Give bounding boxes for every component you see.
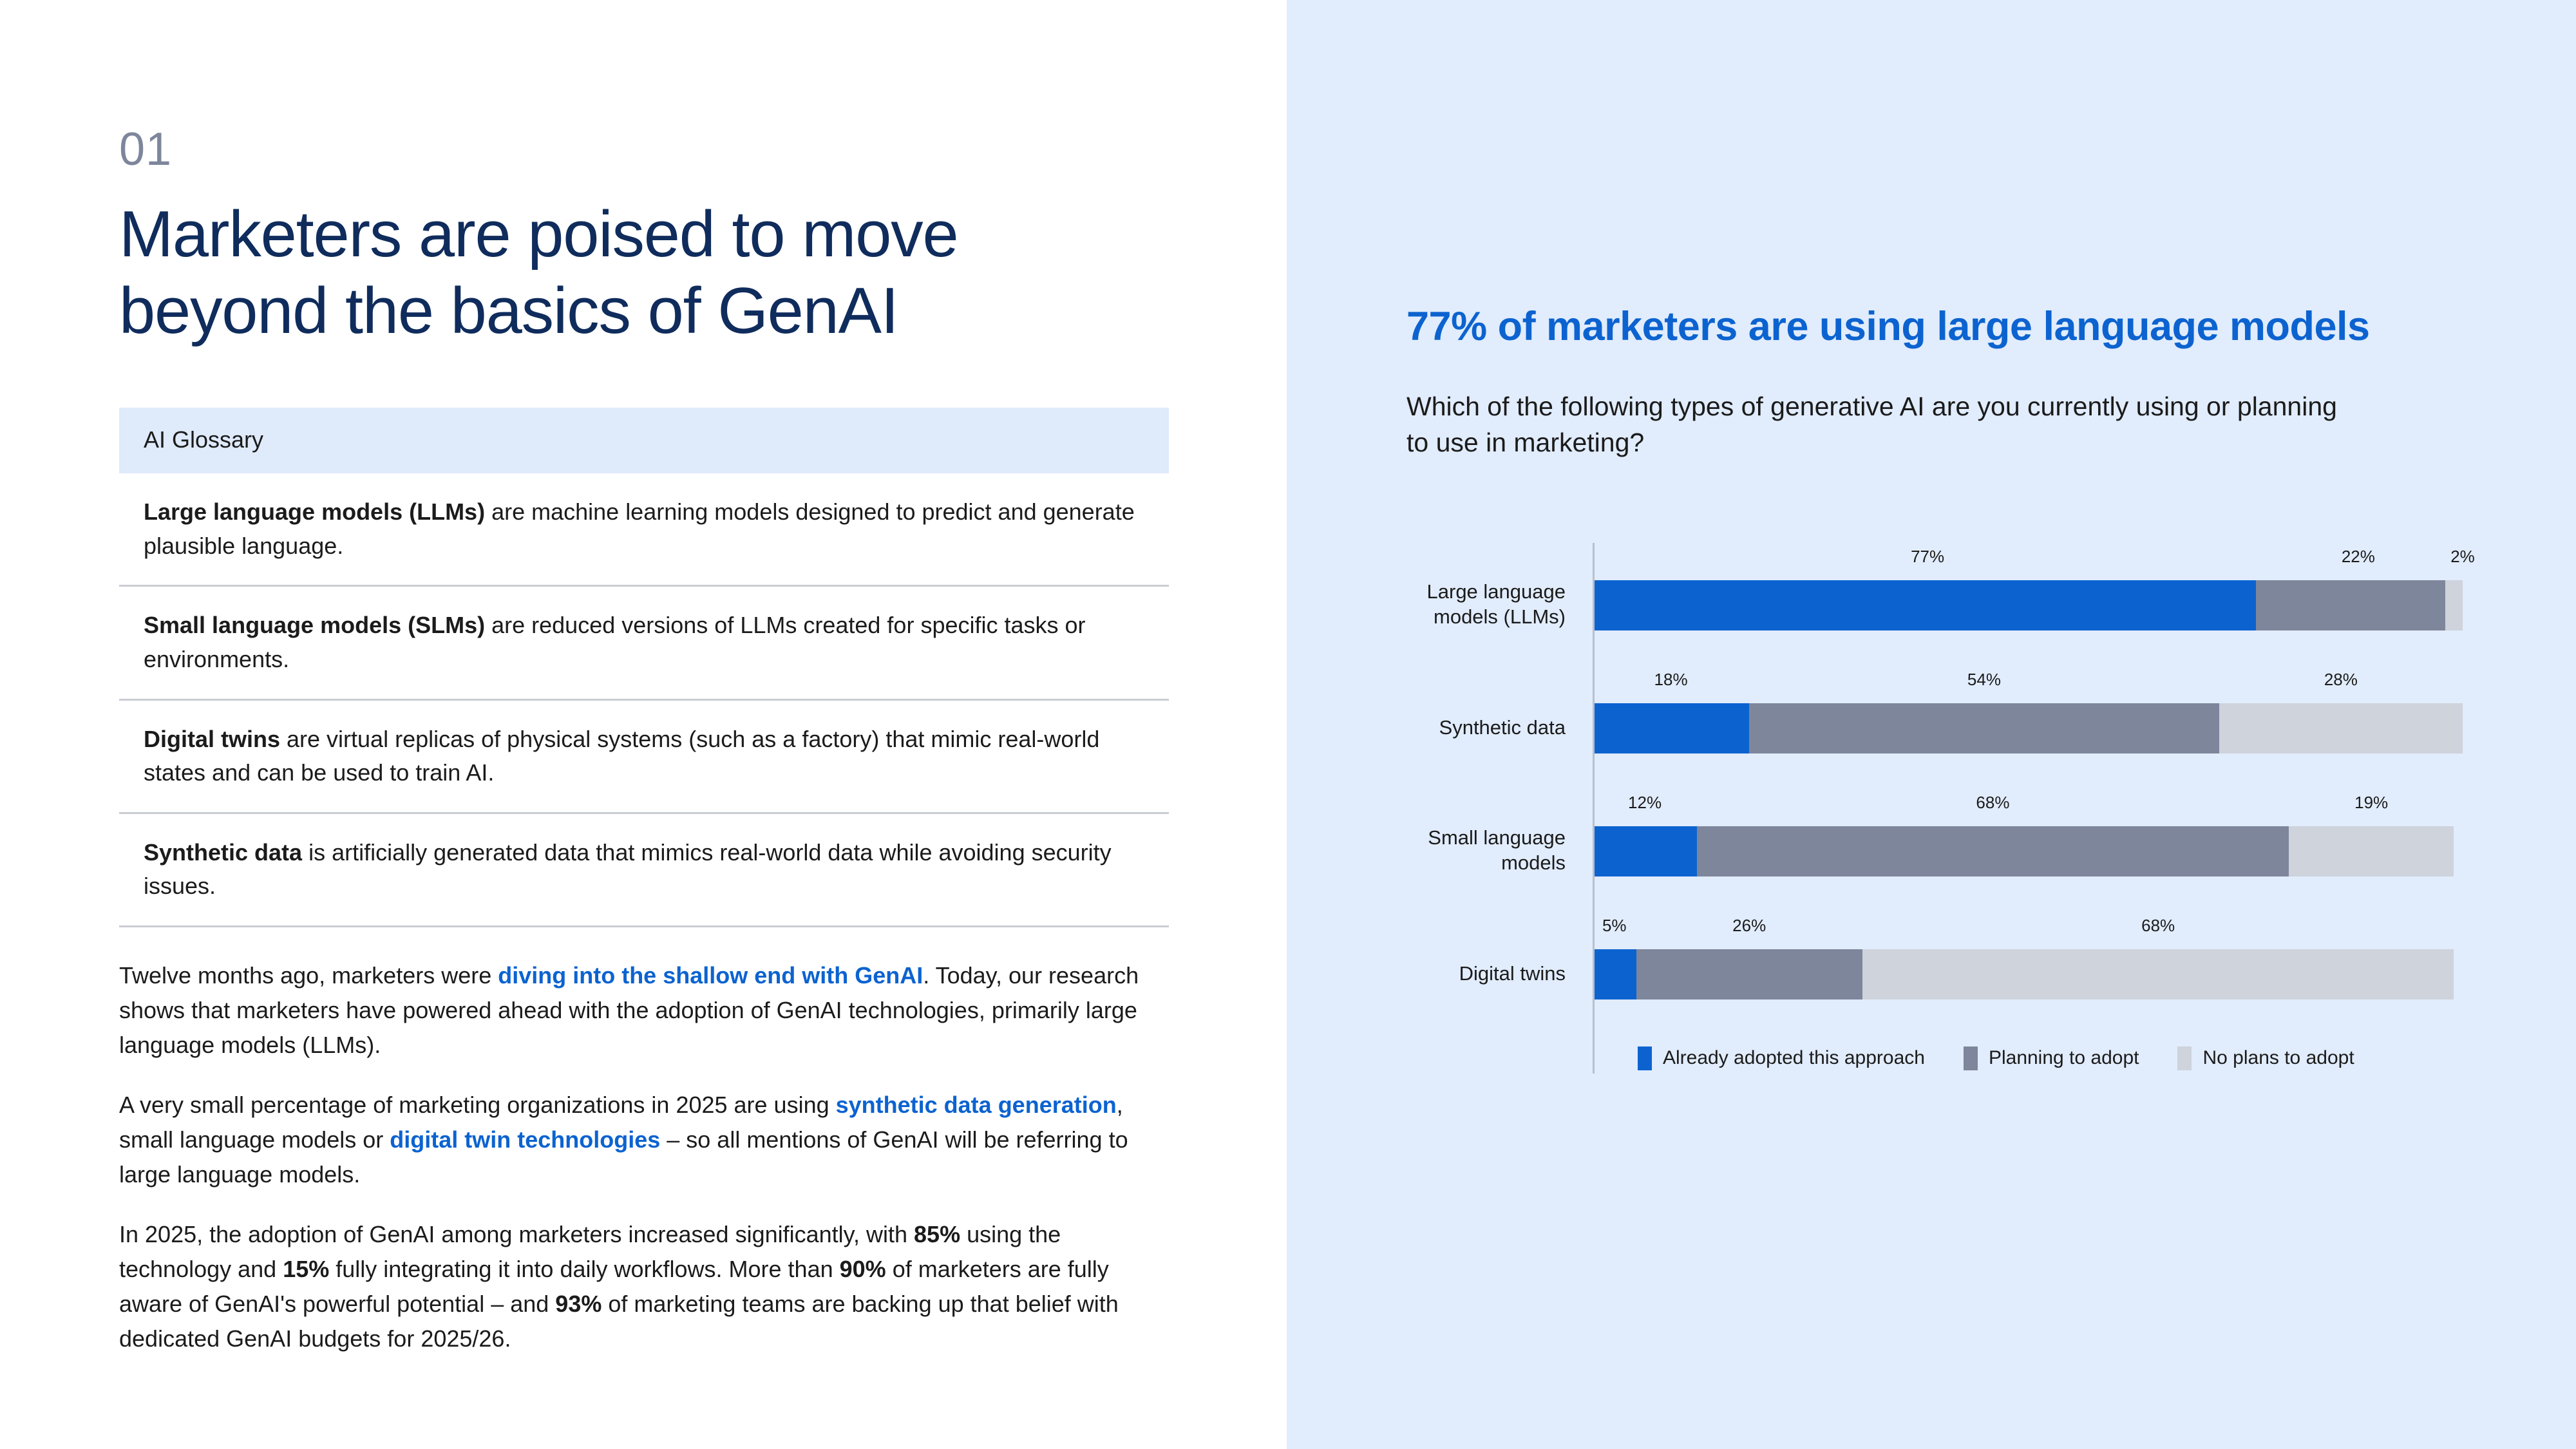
glossary-row: Small language models (SLMs) are reduced… bbox=[119, 587, 1169, 700]
bar-row: Large language models (LLMs)77%22%2% bbox=[1406, 543, 2463, 666]
bar-value-label: 54% bbox=[1967, 670, 2001, 690]
bar-segment[interactable] bbox=[1697, 826, 2289, 876]
bar-category-label: Digital twins bbox=[1406, 912, 1581, 1035]
glossary-term: Large language models (LLMs) bbox=[144, 498, 485, 525]
bar-row: Digital twins5%26%68% bbox=[1406, 912, 2463, 1035]
glossary-term: Digital twins bbox=[144, 726, 280, 752]
chart-question: Which of the following types of generati… bbox=[1406, 388, 2340, 460]
legend-item[interactable]: Already adopted this approach bbox=[1638, 1046, 1925, 1070]
bar-value-label: 28% bbox=[2324, 670, 2358, 690]
glossary-term: Synthetic data bbox=[144, 839, 302, 866]
chart-legend: Already adopted this approachPlanning to… bbox=[1593, 1046, 2463, 1070]
stat-15-percent: 15% bbox=[283, 1256, 329, 1282]
bar-track: 77%22%2% bbox=[1593, 543, 2463, 666]
bar-row: Synthetic data18%54%28% bbox=[1406, 666, 2463, 789]
paragraph-1: Twelve months ago, marketers were diving… bbox=[119, 958, 1166, 1063]
article-panel: 01 Marketers are poised to move beyond t… bbox=[0, 0, 1287, 1449]
bar-segment[interactable] bbox=[1593, 826, 1697, 876]
chart-axis-line bbox=[1593, 543, 1595, 1074]
legend-swatch-icon bbox=[2177, 1046, 2192, 1070]
link-shallow-end-genai[interactable]: diving into the shallow end with GenAI bbox=[498, 962, 923, 989]
bar-value-label: 2% bbox=[2450, 547, 2475, 567]
bar-stack bbox=[1593, 949, 2463, 999]
section-number: 01 bbox=[119, 126, 1172, 173]
bar-segment[interactable] bbox=[1636, 949, 1862, 999]
bar-value-label: 26% bbox=[1732, 916, 1766, 936]
paragraph-3-text-d: fully integrating it into daily workflow… bbox=[329, 1256, 839, 1282]
glossary-header: AI Glossary bbox=[119, 408, 1169, 473]
bar-category-label: Small language models bbox=[1406, 789, 1581, 912]
stat-93-percent: 93% bbox=[555, 1291, 601, 1317]
bar-value-label: 5% bbox=[1602, 916, 1627, 936]
bar-segment[interactable] bbox=[2219, 703, 2463, 753]
glossary-row: Synthetic data is artificially generated… bbox=[119, 814, 1169, 927]
link-synthetic-data-generation[interactable]: synthetic data generation bbox=[836, 1092, 1117, 1118]
bar-value-label: 68% bbox=[1976, 793, 2009, 813]
bar-value-label: 22% bbox=[2342, 547, 2375, 567]
paragraph-3: In 2025, the adoption of GenAI among mar… bbox=[119, 1217, 1166, 1356]
stacked-bar-chart: Large language models (LLMs)77%22%2%Synt… bbox=[1406, 543, 2463, 1070]
paragraph-1-text-a: Twelve months ago, marketers were bbox=[119, 962, 498, 989]
paragraph-3-text-a: In 2025, the adoption of GenAI among mar… bbox=[119, 1221, 914, 1247]
bar-track: 12%68%19% bbox=[1593, 789, 2463, 912]
paragraph-2-text-a: A very small percentage of marketing org… bbox=[119, 1092, 836, 1118]
legend-label: No plans to adopt bbox=[2202, 1047, 2354, 1069]
bar-segment[interactable] bbox=[2256, 580, 2445, 630]
bar-value-label: 18% bbox=[1654, 670, 1688, 690]
bar-stack bbox=[1593, 703, 2463, 753]
bar-segment[interactable] bbox=[1749, 703, 2219, 753]
bar-track: 18%54%28% bbox=[1593, 666, 2463, 789]
bar-track: 5%26%68% bbox=[1593, 912, 2463, 1035]
legend-swatch-icon bbox=[1638, 1046, 1652, 1070]
legend-label: Already adopted this approach bbox=[1663, 1047, 1925, 1069]
legend-item[interactable]: Planning to adopt bbox=[1964, 1046, 2139, 1070]
legend-label: Planning to adopt bbox=[1989, 1047, 2139, 1069]
stat-85-percent: 85% bbox=[914, 1221, 960, 1247]
glossary-term: Small language models (SLMs) bbox=[144, 612, 485, 638]
bar-row: Small language models12%68%19% bbox=[1406, 789, 2463, 912]
glossary-row: Large language models (LLMs) are machine… bbox=[119, 473, 1169, 587]
slide-root: 01 Marketers are poised to move beyond t… bbox=[0, 0, 2576, 1449]
ai-glossary-table: AI Glossary Large language models (LLMs)… bbox=[119, 408, 1169, 927]
bar-category-label: Large language models (LLMs) bbox=[1406, 543, 1581, 666]
article-body: Twelve months ago, marketers were diving… bbox=[119, 958, 1166, 1356]
link-digital-twin-technologies[interactable]: digital twin technologies bbox=[390, 1126, 660, 1153]
glossary-row: Digital twins are virtual replicas of ph… bbox=[119, 701, 1169, 814]
bar-value-label: 12% bbox=[1628, 793, 1662, 813]
bar-stack bbox=[1593, 580, 2463, 630]
bar-stack bbox=[1593, 826, 2463, 876]
chart-headline: 77% of marketers are using large languag… bbox=[1406, 303, 2385, 352]
page-title-line-2: beyond the basics of GenAI bbox=[119, 275, 898, 347]
chart-plot-area: Large language models (LLMs)77%22%2%Synt… bbox=[1406, 543, 2463, 1035]
bar-category-label: Synthetic data bbox=[1406, 666, 1581, 789]
bar-value-label: 68% bbox=[2141, 916, 2175, 936]
page-title-line-1: Marketers are poised to move bbox=[119, 198, 958, 270]
chart-panel: 77% of marketers are using large languag… bbox=[1287, 0, 2576, 1449]
bar-segment[interactable] bbox=[2289, 826, 2454, 876]
legend-swatch-icon bbox=[1964, 1046, 1978, 1070]
bar-segment[interactable] bbox=[1862, 949, 2454, 999]
bar-value-label: 19% bbox=[2354, 793, 2388, 813]
glossary-definition: are virtual replicas of physical systems… bbox=[144, 726, 1099, 786]
page-title: Marketers are poised to move beyond the … bbox=[119, 196, 1172, 350]
bar-segment[interactable] bbox=[1593, 580, 2256, 630]
stat-90-percent: 90% bbox=[840, 1256, 886, 1282]
bar-segment[interactable] bbox=[2445, 580, 2463, 630]
paragraph-2: A very small percentage of marketing org… bbox=[119, 1088, 1166, 1192]
bar-value-label: 77% bbox=[1911, 547, 1944, 567]
bar-segment[interactable] bbox=[1593, 703, 1749, 753]
legend-item[interactable]: No plans to adopt bbox=[2177, 1046, 2354, 1070]
bar-segment[interactable] bbox=[1593, 949, 1636, 999]
